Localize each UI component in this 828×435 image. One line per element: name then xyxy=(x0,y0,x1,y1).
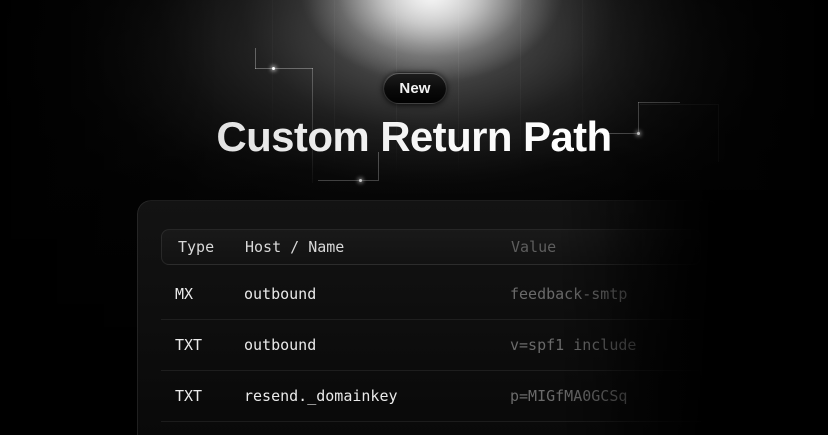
decorative-line xyxy=(640,104,718,105)
column-header-value: Value xyxy=(511,238,700,256)
table-row[interactable]: MX outbound feedback-smtp xyxy=(161,269,701,320)
new-badge-label: New xyxy=(399,81,430,96)
cell-value: v=spf1 include xyxy=(510,336,701,354)
corner-bracket-top-left-icon xyxy=(255,48,315,93)
cell-type: TXT xyxy=(161,336,244,354)
feature-hero-screenshot: New Custom Return Path Type Host / Name … xyxy=(0,0,828,435)
corner-bracket-middle-icon xyxy=(318,152,380,184)
dns-records-card: Type Host / Name Value MX outbound feedb… xyxy=(137,200,721,435)
decorative-line xyxy=(718,104,719,162)
background-grid-lines xyxy=(210,0,650,215)
dns-records-table: Type Host / Name Value MX outbound feedb… xyxy=(161,229,720,422)
cell-value: feedback-smtp xyxy=(510,285,701,303)
column-header-host: Host / Name xyxy=(245,238,511,256)
cell-type: MX xyxy=(161,285,244,303)
table-row[interactable]: TXT outbound v=spf1 include xyxy=(161,320,701,371)
corner-bracket-right-icon xyxy=(600,102,680,142)
cell-value: p=MIGfMA0GCSq xyxy=(510,387,701,405)
decorative-vertical-line xyxy=(312,68,313,183)
cell-host: outbound xyxy=(244,285,510,303)
cell-host: resend._domainkey xyxy=(244,387,510,405)
cell-type: TXT xyxy=(161,387,244,405)
new-badge: New xyxy=(383,72,447,104)
column-header-type: Type xyxy=(162,238,245,256)
table-header-row: Type Host / Name Value xyxy=(161,229,701,265)
cell-host: outbound xyxy=(244,336,510,354)
table-row[interactable]: TXT resend._domainkey p=MIGfMA0GCSq xyxy=(161,371,701,422)
page-title: Custom Return Path xyxy=(0,116,828,158)
